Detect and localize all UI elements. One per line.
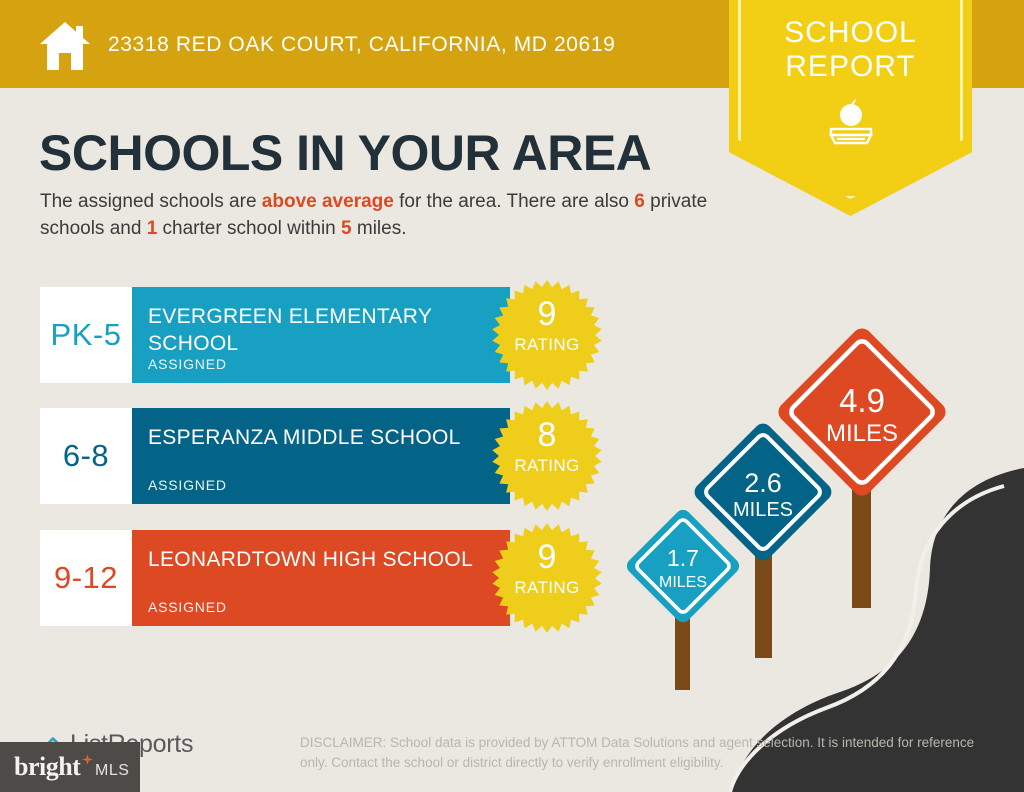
banner-title-line1: SCHOOL [729,16,972,50]
rating-badge: 9 RATING [492,277,602,393]
apple-on-books-icon [821,93,881,153]
grade-range-box: 6-8 [40,408,132,504]
page-title: SCHOOLS IN YOUR AREA [39,124,651,182]
brightmls-suffix: MLS [95,762,129,780]
school-name: EVERGREEN ELEMENTARY SCHOOL [148,303,478,357]
rating-badge: 9 RATING [492,520,602,636]
rating-value: 9 [492,540,602,574]
rating-caption: RATING [492,578,602,598]
infographic-page: 23318 RED OAK COURT, CALIFORNIA, MD 2061… [0,0,1024,792]
banner-title: SCHOOL REPORT [729,16,972,84]
property-address: 23318 RED OAK COURT, CALIFORNIA, MD 2061… [108,33,615,57]
school-report-banner: SCHOOL REPORT [729,0,972,216]
star-accent-icon [82,754,93,765]
school-status-label: ASSIGNED [148,356,227,372]
sign-distance-value: 4.9 [839,382,885,419]
subtitle-part4: charter school within [157,218,341,239]
subtitle-part2: for the area. There are also [394,191,634,212]
sign-distance-value: 1.7 [667,545,699,571]
grade-range-label: 9-12 [54,560,118,596]
brightmls-brand: bright [14,752,80,782]
sign-distance-unit: MILES [826,420,898,447]
subtitle-part1: The assigned schools are [40,191,262,212]
subtitle-highlight-charter-count: 1 [147,218,158,239]
rating-caption: RATING [492,335,602,355]
rating-caption: RATING [492,456,602,476]
school-name: ESPERANZA MIDDLE SCHOOL [148,424,478,451]
subtitle-highlight-above-average: above average [262,191,394,212]
page-subtitle: The assigned schools are above average f… [40,188,720,242]
road-signs-illustration: 4.9 MILES 2.6 MILES 1.7 MILES [600,300,1024,792]
school-name: LEONARDTOWN HIGH SCHOOL [148,546,478,573]
banner-title-line2: REPORT [729,50,972,84]
sign-distance-unit: MILES [659,574,707,591]
brightmls-watermark: bright MLS [0,742,140,792]
rating-value: 9 [492,297,602,331]
house-icon [38,20,92,72]
school-status-label: ASSIGNED [148,599,227,615]
sign-distance-unit: MILES [733,499,793,521]
subtitle-part5: miles. [352,218,407,239]
school-status-label: ASSIGNED [148,477,227,493]
sign-distance-value: 2.6 [744,468,782,498]
rating-badge: 8 RATING [492,398,602,514]
subtitle-highlight-radius: 5 [341,218,352,239]
grade-range-label: 6-8 [63,438,109,474]
grade-range-label: PK-5 [51,317,122,353]
rating-value: 8 [492,418,602,452]
grade-range-box: PK-5 [40,287,132,383]
subtitle-highlight-private-count: 6 [634,191,645,212]
grade-range-box: 9-12 [40,530,132,626]
disclaimer-text: DISCLAIMER: School data is provided by A… [300,733,990,773]
